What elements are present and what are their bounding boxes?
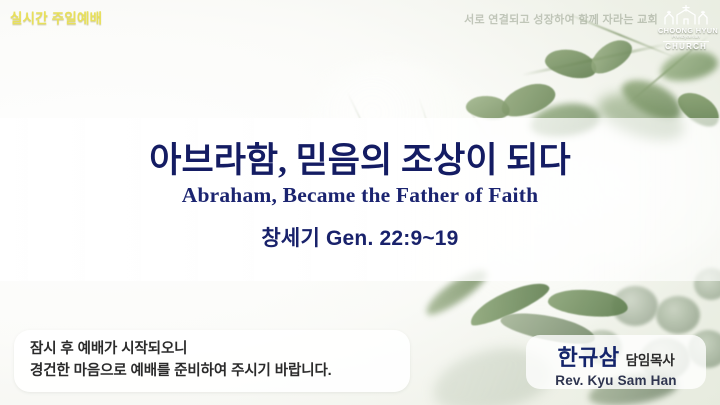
- worship-stream-slide: 실시간 주일예배 서로 연결되고 성장하여 함께 자라는 교회 CHOONG H…: [0, 0, 720, 405]
- logo-name-line2: Presbyterian: [658, 34, 714, 39]
- church-building-icon: [660, 4, 712, 26]
- service-notice-box: 잠시 후 예배가 시작되오니 경건한 마음으로 예배를 준비하여 주시기 바랍니…: [14, 330, 410, 392]
- church-slogan: 서로 연결되고 성장하여 함께 자라는 교회: [464, 11, 658, 27]
- scripture-reference: 창세기 Gen. 22:9~19: [0, 222, 720, 252]
- leaf-shape: [656, 296, 700, 334]
- notice-line-1: 잠시 후 예배가 시작되오니: [30, 339, 410, 361]
- preacher-name-korean: 한규삼: [557, 340, 619, 372]
- sermon-title-korean: 아브라함, 믿음의 조상이 되다: [0, 140, 720, 181]
- church-logo: CHOONG HYUN Presbyterian CHURCH: [658, 4, 714, 54]
- live-service-label: 실시간 주일예배: [10, 7, 102, 27]
- preacher-role-korean: 담임목사: [626, 349, 675, 369]
- sermon-title-english: Abraham, Became the Father of Faith: [0, 183, 720, 208]
- preacher-name-box: 한규삼 담임목사 Rev. Kyu Sam Han: [526, 335, 706, 389]
- sermon-titles: 아브라함, 믿음의 조상이 되다 Abraham, Became the Fat…: [0, 140, 720, 252]
- logo-name-line3: CHURCH: [658, 43, 714, 51]
- notice-line-2: 경건한 마음으로 예배를 준비하여 주시기 바랍니다.: [30, 361, 410, 383]
- preacher-name-english: Rev. Kyu Sam Han: [526, 373, 706, 388]
- preacher-korean-row: 한규삼 담임목사: [526, 340, 706, 372]
